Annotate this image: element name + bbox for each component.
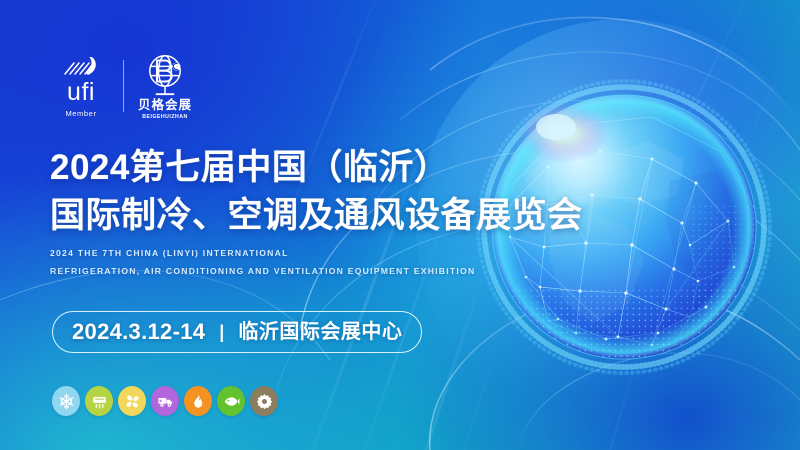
snowflake-icon[interactable] <box>52 386 80 416</box>
exhibition-banner: ufi Member 贝格会展 BEIGEHUIZHAN 2024第七届中 <box>0 0 800 450</box>
cold-chain-truck-icon[interactable] <box>151 386 179 416</box>
vertical-divider-icon <box>123 60 124 112</box>
pill-separator: | <box>219 323 224 341</box>
air-conditioner-icon[interactable] <box>85 386 113 416</box>
subtitle-line-2: REFRIGERATION, AIR CONDITIONING AND VENT… <box>50 267 475 276</box>
page-title-line-1: 2024第七届中国（临沂） <box>50 150 449 185</box>
date-venue-pill: 2024.3.12-14 | 临沂国际会展中心 <box>52 311 422 353</box>
beige-logo[interactable]: 贝格会展 BEIGEHUIZHAN <box>137 53 193 120</box>
gear-icon[interactable] <box>250 386 278 416</box>
flame-icon[interactable] <box>184 386 212 416</box>
page-title-line-2: 国际制冷、空调及通风设备展览会 <box>50 198 583 233</box>
logo-group: ufi Member 贝格会展 BEIGEHUIZHAN <box>50 50 193 122</box>
ufi-logo[interactable]: ufi Member <box>50 55 112 118</box>
event-venue: 临沂国际会展中心 <box>238 322 402 342</box>
beige-name-cn: 贝格会展 <box>138 99 192 112</box>
beige-name-en: BEIGEHUIZHAN <box>142 114 187 120</box>
ufi-member-label: Member <box>65 109 96 118</box>
category-icon-row <box>52 386 278 416</box>
fish-icon[interactable] <box>217 386 245 416</box>
event-date: 2024.3.12-14 <box>72 321 205 343</box>
ufi-swoosh-icon <box>61 55 101 77</box>
ufi-wordmark: ufi <box>67 80 95 105</box>
fan-icon[interactable] <box>118 386 146 416</box>
subtitle-line-1: 2024 THE 7TH CHINA (LINYI) INTERNATIONAL <box>50 249 289 258</box>
beige-globe-monogram-icon <box>137 53 193 97</box>
